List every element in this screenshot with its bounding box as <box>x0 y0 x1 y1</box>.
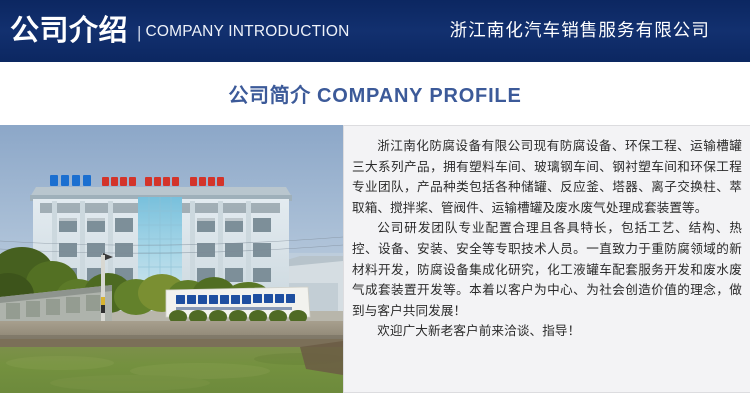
profile-paragraph-2: 公司研发团队专业配置合理且各具特长，包括工艺、结构、热控、设备、安装、安全等专职… <box>352 218 742 321</box>
header-company-group: 浙江南化汽车销售服务有限公司 <box>450 0 710 62</box>
page-title: 公司介绍 <box>10 17 128 46</box>
profile-paragraph-1: 浙江南化防腐设备有限公司现有防腐设备、环保工程、运输槽罐三大系列产品，拥有塑料车… <box>352 136 742 218</box>
title-divider: | <box>137 24 141 41</box>
section-title-bar: 公司简介 COMPANY PROFILE <box>0 62 750 125</box>
company-name: 浙江南化汽车销售服务有限公司 <box>450 22 710 40</box>
company-profile-text: 浙江南化防腐设备有限公司现有防腐设备、环保工程、运输槽罐三大系列产品，拥有塑料车… <box>343 125 750 393</box>
profile-paragraph-3: 欢迎广大新老客户前来洽谈、指导！ <box>352 321 742 342</box>
section-title-en: COMPANY PROFILE <box>317 85 522 107</box>
company-building-photo <box>0 125 343 393</box>
profile-content: 浙江南化防腐设备有限公司现有防腐设备、环保工程、运输槽罐三大系列产品，拥有塑料车… <box>0 125 750 393</box>
page-title-english: COMPANY INTRODUCTION <box>145 24 349 40</box>
header-title-group: 公司介绍 | COMPANY INTRODUCTION <box>10 0 350 62</box>
section-title-cn: 公司简介 <box>228 85 310 107</box>
building-photo-illustration <box>0 125 343 393</box>
section-title: 公司简介 COMPANY PROFILE <box>228 79 521 108</box>
page-header: 公司介绍 | COMPANY INTRODUCTION 浙江南化汽车销售服务有限… <box>0 0 750 62</box>
